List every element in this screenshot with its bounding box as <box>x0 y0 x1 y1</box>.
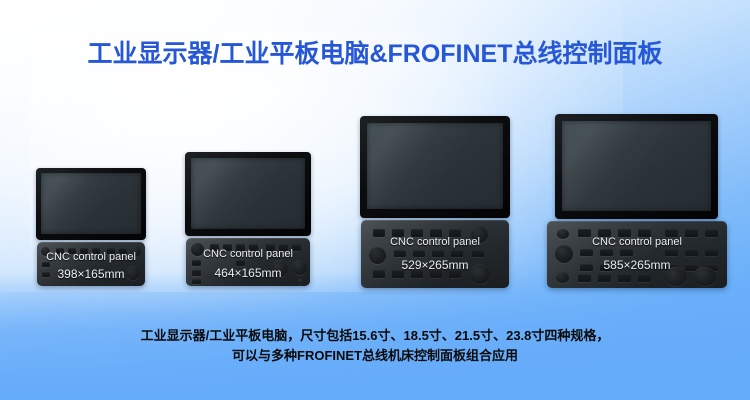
panel-key[interactable] <box>394 250 406 257</box>
panel-key[interactable] <box>638 274 651 282</box>
monitor-screen-15-6 <box>41 173 141 234</box>
control-panel-15-6: CNC control panel 398×165mm <box>37 242 145 286</box>
device-21-5: CNC control panel 529×265mm <box>360 116 510 288</box>
panel-size-23-8: 585×265mm <box>547 258 727 272</box>
caption-line-1: 工业显示器/工业平板电脑，尺寸包括15.6寸、18.5寸、21.5寸、23.8寸… <box>0 326 750 346</box>
panel-key[interactable] <box>413 250 425 257</box>
control-panel-23-8: CNC control panel 585×265mm <box>547 221 727 288</box>
panel-title-23-8: CNC control panel <box>547 236 727 248</box>
monitor-bezel-23-8 <box>555 114 718 219</box>
panel-key[interactable] <box>618 274 631 282</box>
panel-key[interactable] <box>685 249 698 256</box>
panel-key[interactable] <box>451 250 463 257</box>
monitor-bezel-15-6 <box>36 168 146 240</box>
panel-size-15-6: 398×165mm <box>37 267 145 281</box>
panel-key[interactable] <box>472 250 484 257</box>
panel-key[interactable] <box>620 249 633 256</box>
panel-key[interactable] <box>598 274 611 282</box>
panel-key[interactable] <box>600 249 613 256</box>
panel-key[interactable] <box>578 274 591 282</box>
panel-knob[interactable] <box>556 272 569 283</box>
monitor-screen-23-8 <box>562 121 711 211</box>
panel-title-18-5: CNC control panel <box>186 248 310 260</box>
panel-key[interactable] <box>432 250 444 257</box>
panel-title-21-5: CNC control panel <box>361 236 509 248</box>
control-panel-21-5: CNC control panel 529×265mm <box>361 220 509 288</box>
device-15-6: CNC control panel 398×165mm <box>36 168 146 286</box>
monitor-screen-18-5 <box>191 158 305 229</box>
monitor-bezel-18-5 <box>185 152 311 236</box>
panel-title-15-6: CNC control panel <box>37 251 145 263</box>
monitor-bezel-21-5 <box>360 116 510 218</box>
poster-canvas: 工业显示器/工业平板电脑&FROFINET总线控制面板 CNC control … <box>0 0 750 400</box>
panel-key[interactable] <box>705 249 718 256</box>
device-18-5-wrap: CNC control panel 464×165mm <box>185 152 311 286</box>
page-title: 工业显示器/工业平板电脑&FROFINET总线控制面板 <box>0 34 750 70</box>
monitor-screen-21-5 <box>367 123 503 209</box>
panel-key[interactable] <box>580 249 593 256</box>
panel-size-18-5: 464×165mm <box>186 266 310 280</box>
panel-key[interactable] <box>665 249 678 256</box>
panel-size-21-5: 529×265mm <box>361 258 509 272</box>
device-23-8: CNC control panel 585×265mm <box>555 114 720 288</box>
control-panel-18-5: CNC control panel 464×165mm <box>186 238 310 286</box>
caption-line-2: 可以与多种FROFINET总线机床控制面板组合应用 <box>0 346 750 366</box>
footer-caption: 工业显示器/工业平板电脑，尺寸包括15.6寸、18.5寸、21.5寸、23.8寸… <box>0 326 750 366</box>
